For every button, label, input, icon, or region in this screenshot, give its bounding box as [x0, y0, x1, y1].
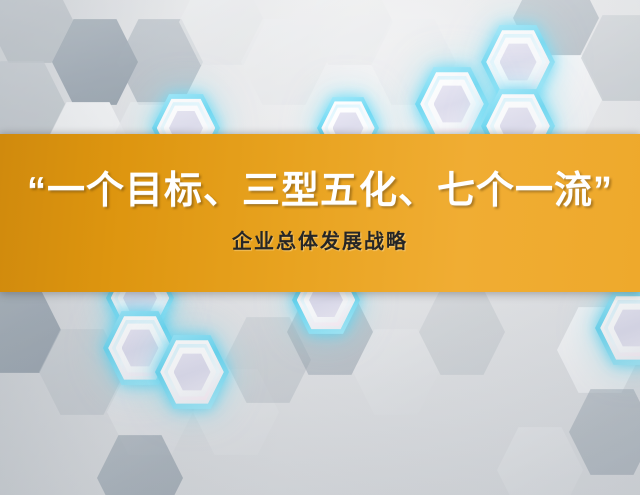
glow-hex-top-left: [415, 65, 489, 143]
glow-hex-bottom-mid: [155, 333, 229, 411]
banner-subtitle: 企业总体发展战略: [232, 225, 408, 254]
glow-hex-right-edge: [595, 289, 640, 367]
presentation-slide: “一个目标、三型五化、七个一流” 企业总体发展战略: [0, 0, 640, 495]
banner-title: “一个目标、三型五化、七个一流”: [27, 172, 613, 212]
title-banner: “一个目标、三型五化、七个一流” 企业总体发展战略: [0, 134, 640, 292]
